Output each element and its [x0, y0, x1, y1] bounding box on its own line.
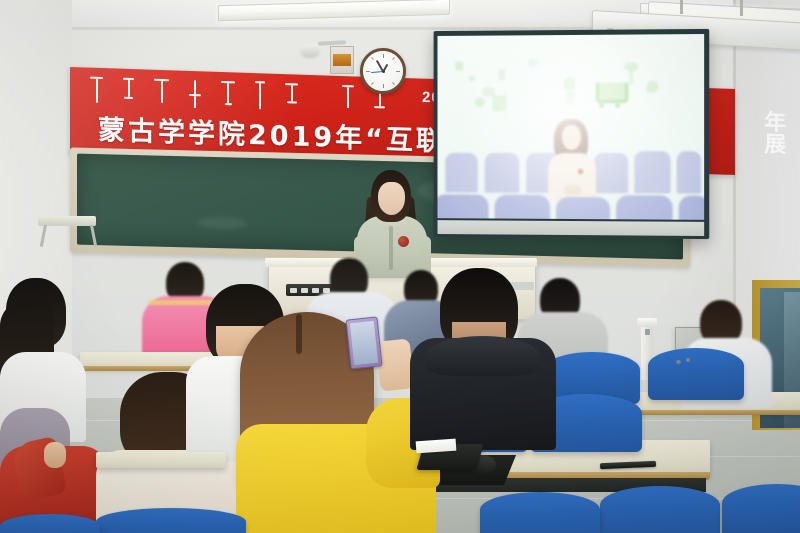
smartphone: [345, 316, 382, 369]
presenter-face: [378, 182, 405, 215]
seat-back: [600, 486, 720, 533]
light-rod: [680, 0, 683, 14]
seat-back: [480, 492, 600, 533]
hoodie-hood: [426, 336, 540, 376]
mongolian-glyph: [342, 85, 354, 115]
mongolian-glyph: [123, 78, 134, 108]
banner-right-fragment: 年展: [760, 110, 785, 155]
smartphone-screen: [350, 321, 378, 365]
wall-post-cap: [637, 318, 657, 327]
light-rod: [740, 0, 743, 16]
mongolian-glyph: [90, 77, 103, 107]
mongolian-glyph: [221, 81, 235, 111]
wall-clock: [360, 48, 406, 94]
seat-back-foreground: [0, 514, 100, 533]
presenter-placket: [389, 226, 393, 270]
clock-face: [363, 51, 403, 91]
dome-security-camera-icon: [300, 44, 320, 58]
mongolian-glyph: [154, 79, 169, 109]
seat-back: [722, 484, 800, 533]
classroom-photo: 2019 蒙古学学院2019年“互联 年展: [0, 0, 800, 533]
mongolian-glyph: [189, 80, 201, 110]
desk-row-front: [96, 452, 226, 468]
wall-control-box: [330, 46, 354, 74]
seat-back: [648, 348, 744, 400]
presenter-badge: [398, 236, 409, 247]
projection-screen-surface: [438, 34, 705, 220]
projector-haze: [438, 34, 705, 220]
seat-back-foreground: [96, 508, 246, 533]
projection-screen: [434, 29, 710, 239]
screen-bottom-bar: [438, 220, 705, 236]
student-yellow-filming-part: [296, 314, 302, 354]
wall-post-fitting: [645, 329, 650, 335]
control-box-panel: [333, 54, 351, 66]
student-red-jacket-hand: [44, 442, 66, 468]
mongolian-glyph: [255, 81, 265, 113]
mongolian-glyph: [285, 83, 298, 113]
